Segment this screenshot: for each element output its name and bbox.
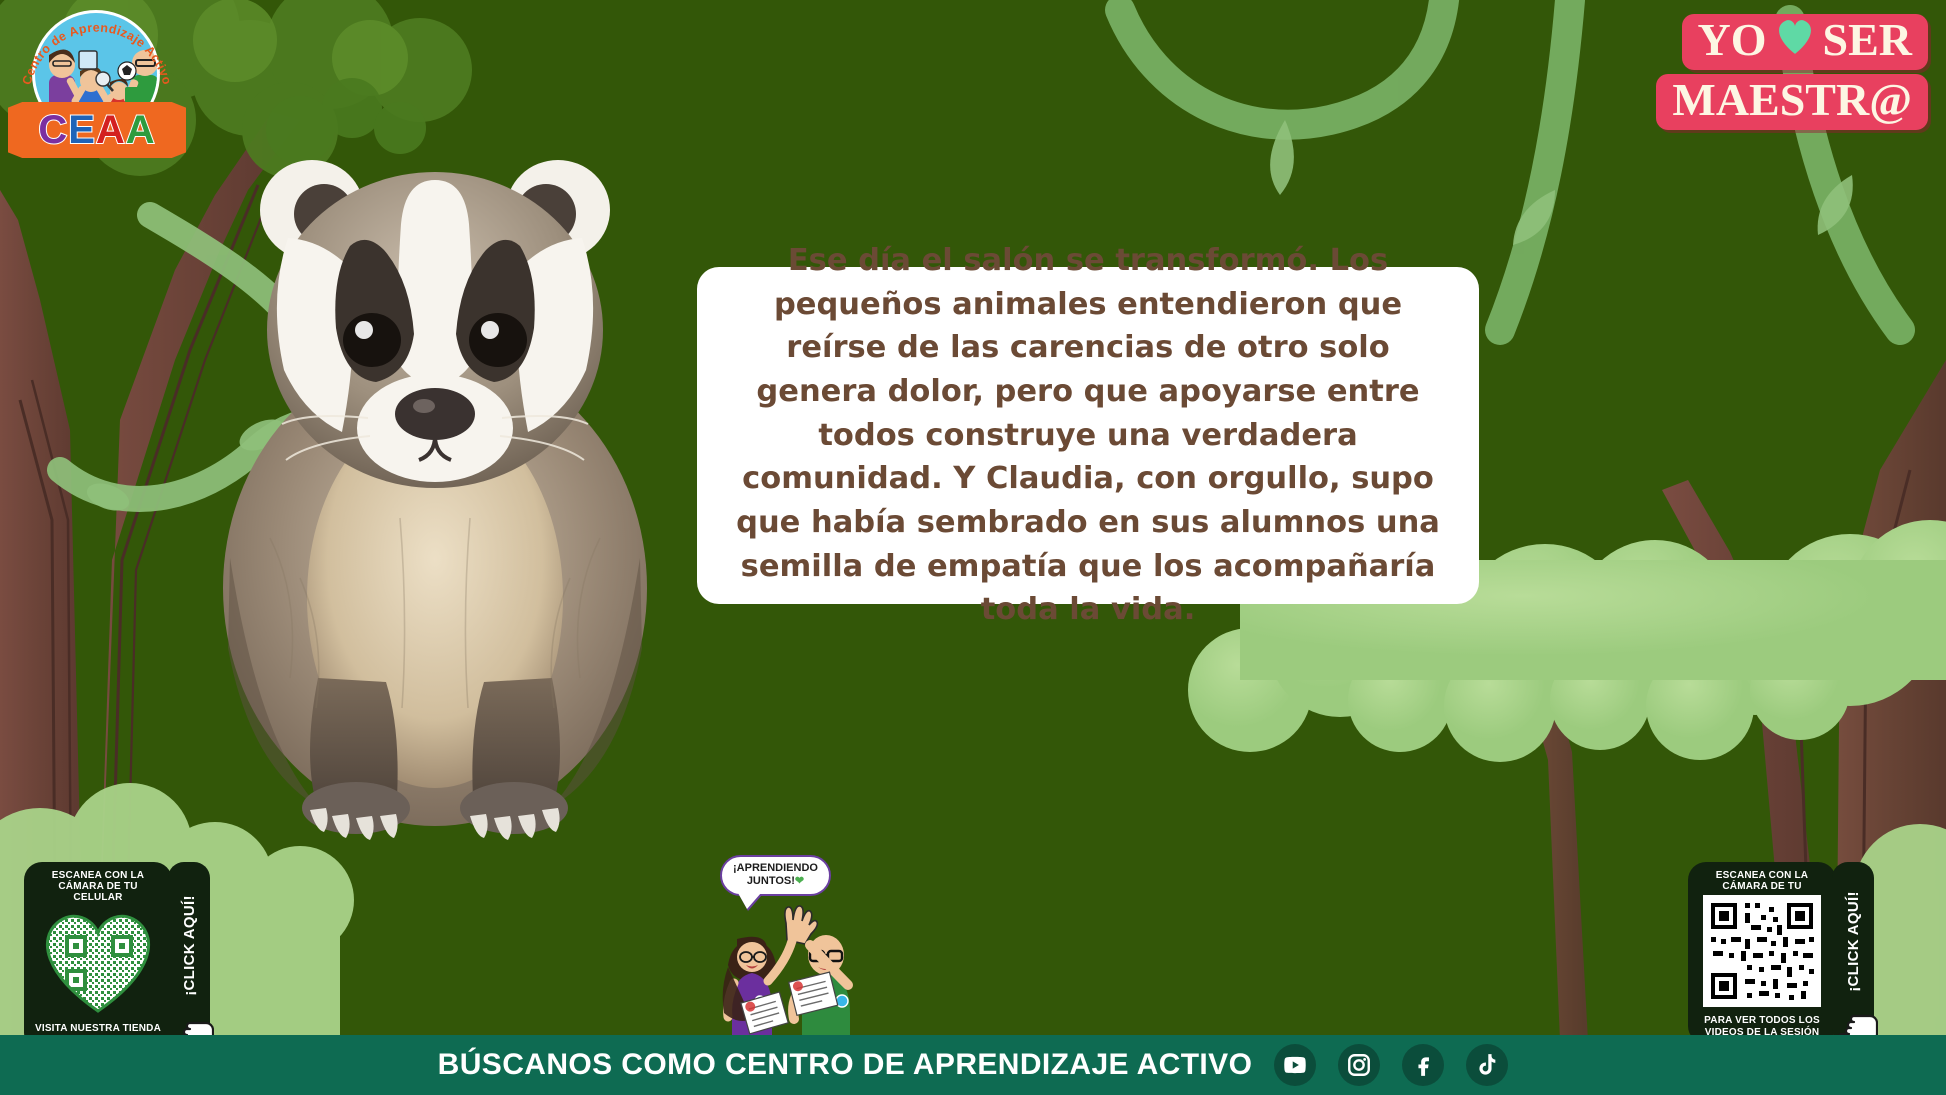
facebook-icon[interactable]: [1402, 1044, 1444, 1086]
qr-store-caption-top: ESCANEA CON LA CÁMARA DE TU CELULAR: [34, 870, 162, 904]
qr-videos-code-square[interactable]: [1703, 895, 1821, 1012]
youtube-icon[interactable]: [1274, 1044, 1316, 1086]
footer-call-to-action: BÚSCANOS COMO CENTRO DE APRENDIZAJE ACTI…: [438, 1048, 1253, 1082]
heart-icon: ❤: [795, 875, 804, 887]
qr-store-click-tab[interactable]: ¡CLICK AQUÍ!: [168, 862, 210, 1051]
teachers-illustration: ¡APRENDIENDO JUNTOS!❤: [708, 855, 890, 1035]
heart-icon: [1773, 14, 1817, 58]
qr-videos-panel[interactable]: ESCANEA CON LA CÁMARA DE TU: [1688, 862, 1836, 1044]
speech-bubble-text-2: JUNTOS!: [747, 875, 795, 887]
logo-letter-a2: A: [126, 108, 156, 153]
qr-store-code-heart[interactable]: [35, 907, 161, 1020]
yo-amo-ser-maestro-badge: YO SER MAESTR@: [1656, 14, 1928, 130]
footer-bar: BÚSCANOS COMO CENTRO DE APRENDIZAJE ACTI…: [0, 1035, 1946, 1095]
slide-canvas: Centro de Aprendizaje Activo C E A A YO …: [0, 0, 1946, 1095]
badger-illustration: [200, 118, 670, 840]
story-text-card: Ese día el salón se transformó. Los pequ…: [697, 267, 1479, 604]
logo-tablet: [79, 51, 97, 69]
qr-store-panel[interactable]: ESCANEA CON LA CÁMARA DE TU CELULAR: [24, 862, 172, 1051]
maestro-ser-text: SER: [1823, 17, 1912, 63]
maestro-line-1: YO SER: [1682, 14, 1928, 70]
qr-videos-block[interactable]: ESCANEA CON LA CÁMARA DE TU: [1688, 862, 1874, 1044]
logo-letter-c: C: [38, 108, 68, 153]
qr-videos-caption-top: ESCANEA CON LA CÁMARA DE TU: [1698, 870, 1826, 892]
instagram-icon[interactable]: [1338, 1044, 1380, 1086]
badger-nose: [395, 388, 475, 440]
maestro-yo-text: YO: [1698, 17, 1767, 63]
tiktok-icon[interactable]: [1466, 1044, 1508, 1086]
logo-letter-e: E: [68, 108, 96, 153]
qr-store-block[interactable]: ESCANEA CON LA CÁMARA DE TU CELULAR: [24, 862, 210, 1051]
maestro-line-2: MAESTR@: [1656, 74, 1928, 130]
qr-videos-click-tab[interactable]: ¡CLICK AQUÍ!: [1832, 862, 1874, 1044]
speech-bubble-line-1: ¡APRENDIENDO: [733, 862, 818, 875]
speech-bubble: ¡APRENDIENDO JUNTOS!❤: [720, 855, 831, 896]
two-teachers-figures: [708, 905, 890, 1037]
speech-bubble-line-2: JUNTOS!❤: [733, 875, 818, 888]
logo-banner: C E A A: [8, 102, 186, 158]
qr-videos-click-label: ¡CLICK AQUÍ!: [1845, 892, 1862, 993]
story-paragraph: Ese día el salón se transformó. Los pequ…: [731, 239, 1445, 631]
ceaa-logo[interactable]: Centro de Aprendizaje Activo C E A A: [8, 4, 186, 164]
logo-letter-a1: A: [96, 108, 126, 153]
qr-store-click-label: ¡CLICK AQUÍ!: [181, 895, 198, 996]
